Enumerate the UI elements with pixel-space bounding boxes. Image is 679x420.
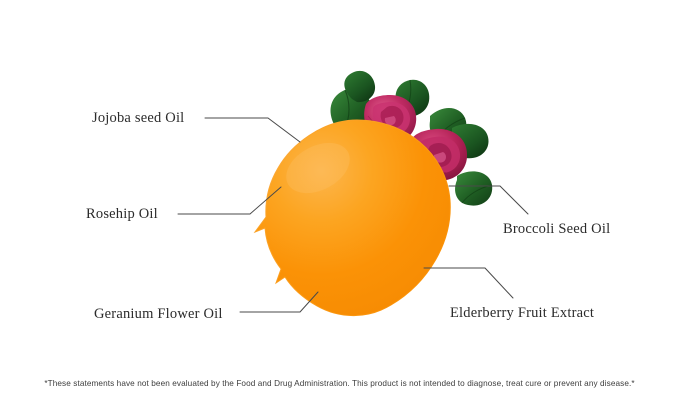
callout-label-geranium: Geranium Flower Oil (94, 307, 223, 322)
leader-line-elderberry (424, 268, 513, 298)
callout-label-rosehip: Rosehip Oil (86, 207, 158, 222)
callout-label-jojoba: Jojoba seed Oil (92, 111, 184, 126)
leader-line-broccoli (449, 186, 528, 214)
leader-line-rosehip (178, 187, 281, 214)
callout-label-elderberry: Elderberry Fruit Extract (450, 306, 594, 321)
ingredient-callout-graphic: Jojoba seed Oil Rosehip Oil Geranium Flo… (0, 0, 679, 420)
diagram-stage: Jojoba seed Oil Rosehip Oil Geranium Flo… (0, 0, 679, 420)
fda-disclaimer: *These statements have not been evaluate… (0, 379, 679, 389)
leader-line-geranium (240, 292, 318, 312)
callout-label-broccoli: Broccoli Seed Oil (503, 222, 610, 237)
leader-line-jojoba (205, 118, 300, 142)
